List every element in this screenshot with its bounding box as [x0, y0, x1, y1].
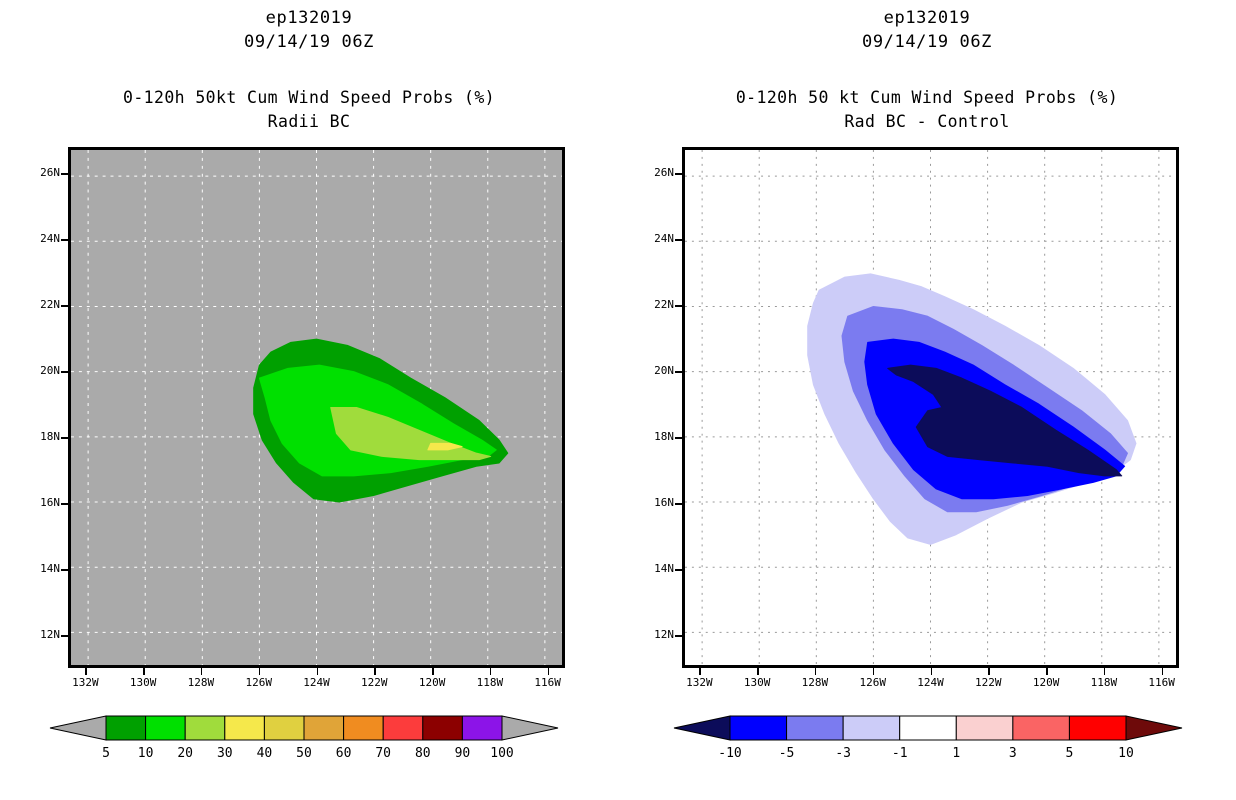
x-tick-label: 128W — [178, 676, 224, 689]
y-tick-label: 20N — [634, 364, 674, 377]
x-tick-mark — [548, 668, 550, 675]
x-tick-label: 118W — [467, 676, 513, 689]
colorbar-tick-label: 30 — [203, 746, 247, 761]
x-tick-mark — [143, 668, 145, 675]
x-tick-mark — [432, 668, 434, 675]
x-tick-label: 130W — [734, 676, 780, 689]
y-tick-label: 18N — [20, 430, 60, 443]
y-tick-mark — [675, 371, 682, 373]
colorbar-tick-label: 10 — [124, 746, 168, 761]
y-tick-label: 14N — [20, 562, 60, 575]
y-tick-mark — [61, 569, 68, 571]
y-tick-label: 24N — [20, 232, 60, 245]
y-tick-mark — [675, 239, 682, 241]
y-tick-mark — [61, 239, 68, 241]
y-tick-label: 16N — [634, 496, 674, 509]
y-tick-label: 26N — [634, 166, 674, 179]
colorbar-tick-label: 5 — [84, 746, 128, 761]
x-tick-mark — [1162, 668, 1164, 675]
y-tick-mark — [61, 503, 68, 505]
y-tick-mark — [61, 371, 68, 373]
colorbar-tick-label: 50 — [282, 746, 326, 761]
colorbar-tick-label: 100 — [480, 746, 524, 761]
panel-left-title-sub: Radii BC — [0, 112, 618, 131]
x-tick-label: 116W — [525, 676, 571, 689]
x-tick-label: 132W — [62, 676, 108, 689]
x-tick-label: 128W — [792, 676, 838, 689]
y-tick-label: 12N — [634, 628, 674, 641]
y-tick-label: 20N — [20, 364, 60, 377]
colorbar-tick-label: 40 — [242, 746, 286, 761]
x-tick-label: 126W — [850, 676, 896, 689]
x-tick-label: 132W — [676, 676, 722, 689]
colorbar-probability: 5102030405060708090100 — [48, 710, 560, 780]
y-tick-mark — [61, 437, 68, 439]
x-tick-mark — [259, 668, 261, 675]
y-tick-label: 24N — [634, 232, 674, 245]
y-tick-mark — [675, 635, 682, 637]
y-tick-label: 18N — [634, 430, 674, 443]
x-tick-label: 120W — [409, 676, 455, 689]
y-tick-label: 12N — [20, 628, 60, 641]
y-tick-mark — [61, 173, 68, 175]
colorbar-tick-label: 60 — [322, 746, 366, 761]
colorbar-tick-label: 3 — [991, 746, 1035, 761]
panel-left-title-main: 0-120h 50kt Cum Wind Speed Probs (%) — [0, 88, 618, 107]
colorbar-tick-label: -3 — [821, 746, 865, 761]
y-tick-mark — [675, 305, 682, 307]
x-tick-label: 130W — [120, 676, 166, 689]
x-tick-label: 122W — [965, 676, 1011, 689]
x-tick-mark — [490, 668, 492, 675]
x-tick-label: 116W — [1139, 676, 1185, 689]
x-tick-mark — [201, 668, 203, 675]
x-tick-label: 118W — [1081, 676, 1127, 689]
y-tick-label: 14N — [634, 562, 674, 575]
x-tick-mark — [317, 668, 319, 675]
panel-right-title-sub: Rad BC - Control — [618, 112, 1236, 131]
colorbar-difference: -10-5-3-113510 — [672, 710, 1184, 780]
x-tick-label: 124W — [294, 676, 340, 689]
colorbar-tick-label: 10 — [1104, 746, 1148, 761]
panel-left-storm-id: ep132019 — [0, 8, 618, 28]
x-tick-mark — [873, 668, 875, 675]
x-tick-mark — [757, 668, 759, 675]
colorbar-tick-label: 20 — [163, 746, 207, 761]
y-tick-label: 22N — [634, 298, 674, 311]
contour-map-radii-bc — [71, 150, 562, 665]
y-tick-mark — [675, 503, 682, 505]
colorbar-tick-label: 1 — [934, 746, 978, 761]
y-tick-label: 26N — [20, 166, 60, 179]
x-tick-mark — [374, 668, 376, 675]
plot-frame-left — [68, 147, 565, 668]
x-tick-mark — [699, 668, 701, 675]
plot-frame-right — [682, 147, 1179, 668]
colorbar-tick-label: -1 — [878, 746, 922, 761]
y-tick-mark — [675, 173, 682, 175]
plot-area-radii-bc[interactable] — [68, 147, 565, 668]
y-tick-mark — [675, 437, 682, 439]
panel-right-datetime: 09/14/19 06Z — [618, 32, 1236, 52]
colorbar-tick-label: 80 — [401, 746, 445, 761]
x-tick-label: 124W — [908, 676, 954, 689]
colorbar-tick-label: 5 — [1047, 746, 1091, 761]
y-tick-mark — [675, 569, 682, 571]
x-tick-label: 120W — [1023, 676, 1069, 689]
x-tick-mark — [1046, 668, 1048, 675]
colorbar-tick-label: -5 — [765, 746, 809, 761]
x-tick-label: 126W — [236, 676, 282, 689]
x-tick-mark — [815, 668, 817, 675]
x-tick-label: 122W — [351, 676, 397, 689]
y-tick-mark — [61, 305, 68, 307]
plot-area-rad-bc-control[interactable] — [682, 147, 1179, 668]
y-tick-mark — [61, 635, 68, 637]
x-tick-mark — [1104, 668, 1106, 675]
x-tick-mark — [988, 668, 990, 675]
colorbar-tick-label: 70 — [361, 746, 405, 761]
x-tick-mark — [931, 668, 933, 675]
x-tick-mark — [85, 668, 87, 675]
colorbar-tick-label: -10 — [708, 746, 752, 761]
y-tick-label: 22N — [20, 298, 60, 311]
panel-radii-bc: ep132019 09/14/19 06Z 0-120h 50kt Cum Wi… — [0, 0, 618, 800]
colorbar-tick-label: 90 — [440, 746, 484, 761]
panel-right-storm-id: ep132019 — [618, 8, 1236, 28]
panel-right-title-main: 0-120h 50 kt Cum Wind Speed Probs (%) — [618, 88, 1236, 107]
y-tick-label: 16N — [20, 496, 60, 509]
contour-map-rad-bc-control — [685, 150, 1176, 665]
panel-left-datetime: 09/14/19 06Z — [0, 32, 618, 52]
